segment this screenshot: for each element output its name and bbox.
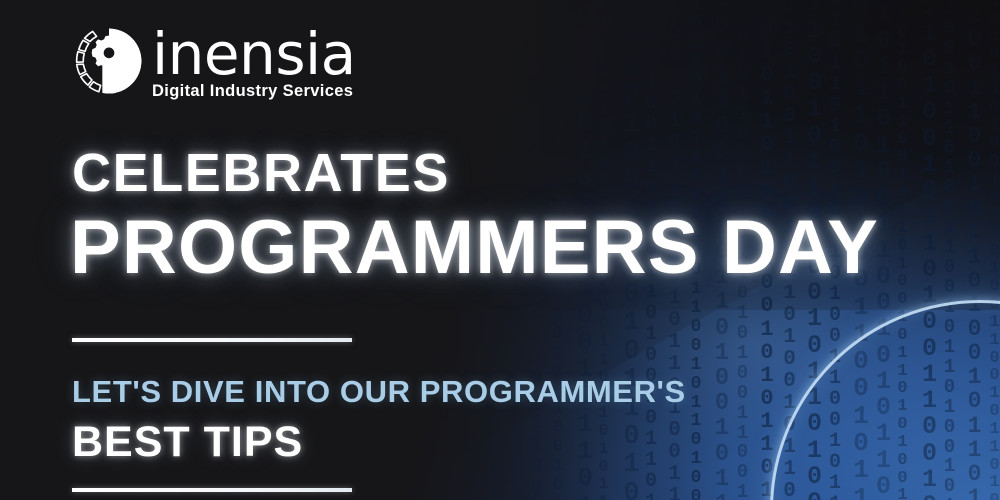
programmers-day-banner: 0 1 0 1 0 0 1 1 0 0 1 0 1 1 0 1 0 0 1 0 … [0, 0, 1000, 500]
kicker-text: CELEBRATES [72, 142, 450, 204]
brand-tagline: Digital Industry Services [152, 82, 356, 101]
brand-name: inensia [152, 28, 356, 81]
banner-content: inensia Digital Industry Services CELEBR… [0, 0, 1000, 500]
brand-logo-text: inensia Digital Industry Services [152, 24, 356, 101]
divider-top [72, 338, 352, 342]
gear-icon [92, 35, 127, 70]
brand-logo[interactable]: inensia Digital Industry Services [72, 24, 356, 101]
page-title: PROGRAMMERS DAY [70, 204, 879, 291]
tips-title: BEST TIPS [72, 418, 303, 467]
divider-bottom [72, 488, 352, 492]
inensia-circle-gear-logo [72, 24, 146, 98]
subtitle-text: LET'S DIVE INTO OUR PROGRAMMER'S [72, 374, 686, 410]
